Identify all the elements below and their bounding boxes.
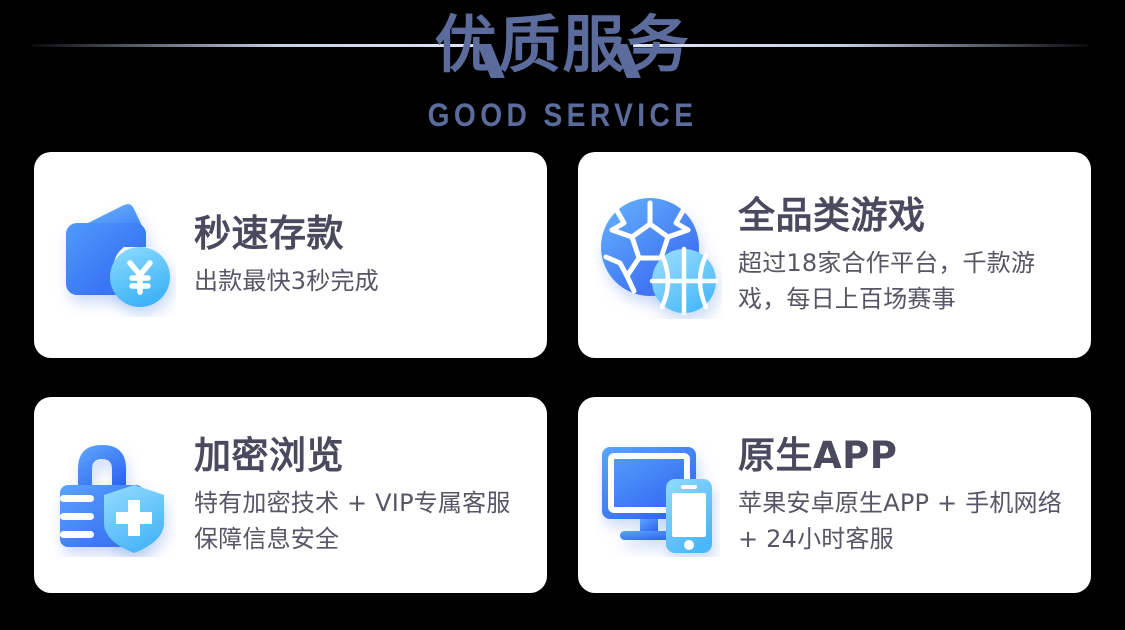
service-card-grid: 秒速存款 出款最快3秒完成 [34, 152, 1092, 593]
soccer-basketball-icon [578, 152, 738, 358]
card-text-block: 全品类游戏 超过18家合作平台，千款游戏，每日上百场赛事 [738, 193, 1091, 317]
card-description: 出款最快3秒完成 [194, 263, 524, 299]
page-title: 优质服务 [0, 6, 1125, 84]
service-card-native-app[interactable]: 原生APP 苹果安卓原生APP + 手机网络 + 24小时客服 [578, 397, 1091, 593]
card-title: 秒速存款 [194, 211, 533, 257]
page-header: 优质服务 GOOD SERVICE [0, 0, 1125, 150]
card-title: 全品类游戏 [738, 193, 1077, 239]
card-title: 原生APP [738, 433, 1077, 479]
lock-shield-icon [34, 397, 194, 593]
page-root: 优质服务 GOOD SERVICE [0, 0, 1125, 630]
service-card-deposit[interactable]: 秒速存款 出款最快3秒完成 [34, 152, 547, 358]
card-text-block: 加密浏览 特有加密技术 + VIP专属客服保障信息安全 [194, 433, 547, 557]
card-text-block: 秒速存款 出款最快3秒完成 [194, 211, 547, 299]
wallet-yen-icon [34, 152, 194, 358]
card-title: 加密浏览 [194, 433, 533, 479]
page-subtitle: GOOD SERVICE [68, 98, 1058, 132]
card-description: 特有加密技术 + VIP专属客服保障信息安全 [194, 485, 533, 557]
card-text-block: 原生APP 苹果安卓原生APP + 手机网络 + 24小时客服 [738, 433, 1091, 557]
card-description: 超过18家合作平台，千款游戏，每日上百场赛事 [738, 245, 1077, 317]
card-description: 苹果安卓原生APP + 手机网络 + 24小时客服 [738, 485, 1077, 557]
service-card-games[interactable]: 全品类游戏 超过18家合作平台，千款游戏，每日上百场赛事 [578, 152, 1091, 358]
service-card-encryption[interactable]: 加密浏览 特有加密技术 + VIP专属客服保障信息安全 [34, 397, 547, 593]
monitor-phone-icon [578, 397, 738, 593]
